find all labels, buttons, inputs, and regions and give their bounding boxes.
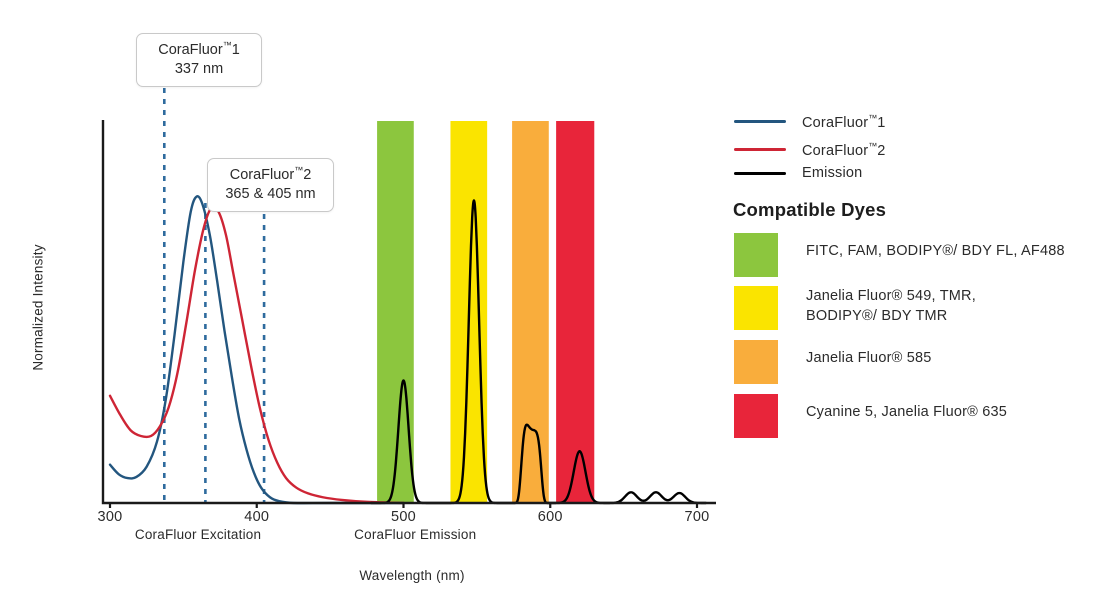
callout-2-tm: ™	[294, 165, 303, 175]
legend-line-swatch-corafluor-2	[734, 148, 786, 151]
dye-label-orange: Janelia Fluor® 585	[806, 340, 932, 369]
legend-line-swatch-emission	[734, 172, 786, 175]
callout-1-tm: ™	[223, 40, 232, 50]
callout-1-value: 337 nm	[149, 60, 249, 79]
chart-area: Normalized Intensity 300 400 500 600 700…	[0, 0, 730, 612]
green-band	[377, 121, 414, 503]
region-label-excitation: CoraFluor Excitation	[135, 527, 261, 542]
dye-swatch-yellow	[734, 286, 778, 330]
callout-2-num: 2	[303, 167, 311, 183]
y-axis-title: Normalized Intensity	[31, 208, 46, 408]
curve-corafluor-2	[110, 207, 404, 503]
dye-label-red: Cyanine 5, Janelia Fluor® 635	[806, 394, 1007, 423]
compatible-dyes-title: Compatible Dyes	[733, 199, 886, 221]
legend-line-swatch-corafluor-1	[734, 120, 786, 123]
figure-root: Normalized Intensity 300 400 500 600 700…	[0, 0, 1110, 612]
legend-item-emission: Emission	[734, 165, 862, 181]
dye-swatch-red	[734, 394, 778, 438]
legend-item-corafluor-1: CoraFluor™1	[734, 113, 886, 131]
dye-label-yellow: Janelia Fluor® 549, TMR, BODIPY®/ BDY TM…	[806, 286, 976, 326]
legend-label-corafluor-2: CoraFluor™2	[802, 141, 886, 159]
red-band	[556, 121, 594, 503]
curve-corafluor-1	[110, 196, 404, 503]
callout-2-value: 365 & 405 nm	[220, 185, 321, 204]
callout-corafluor-1: CoraFluor™1 337 nm	[136, 33, 262, 87]
dye-label-green: FITC, FAM, BODIPY®/ BDY FL, AF488	[806, 233, 1065, 262]
dye-swatch-orange	[734, 340, 778, 384]
orange-band	[512, 121, 549, 503]
x-axis-title: Wavelength (nm)	[359, 568, 464, 583]
legend-label-emission: Emission	[802, 165, 862, 181]
callout-corafluor-2: CoraFluor™2 365 & 405 nm	[207, 158, 334, 212]
dye-row-green: FITC, FAM, BODIPY®/ BDY FL, AF488	[734, 233, 1065, 277]
dye-swatch-green	[734, 233, 778, 277]
legend-item-corafluor-2: CoraFluor™2	[734, 141, 886, 159]
region-label-emission: CoraFluor Emission	[354, 527, 476, 542]
callout-1-name: CoraFluor	[158, 42, 222, 58]
callout-2-name: CoraFluor	[230, 167, 294, 183]
legend-panel: CoraFluor™1 CoraFluor™2 Emission Compati…	[728, 0, 1110, 612]
dye-row-red: Cyanine 5, Janelia Fluor® 635	[734, 394, 1007, 438]
x-tick-500: 500	[374, 509, 434, 525]
x-tick-400: 400	[227, 509, 287, 525]
x-tick-600: 600	[520, 509, 580, 525]
dye-row-orange: Janelia Fluor® 585	[734, 340, 932, 384]
legend-label-corafluor-1: CoraFluor™1	[802, 113, 886, 131]
x-tick-300: 300	[80, 509, 140, 525]
x-tick-700: 700	[667, 509, 727, 525]
callout-1-num: 1	[232, 42, 240, 58]
dye-row-yellow: Janelia Fluor® 549, TMR, BODIPY®/ BDY TM…	[734, 286, 976, 330]
